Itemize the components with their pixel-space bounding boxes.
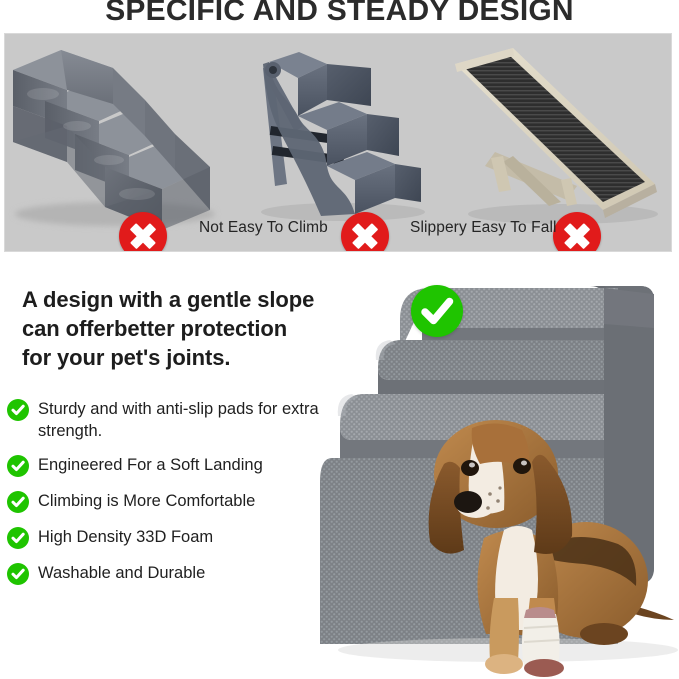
headline-line-2: can offerbetter protection xyxy=(22,314,362,343)
benefit-text: Engineered For a Soft Landing xyxy=(38,454,336,476)
check-icon xyxy=(7,491,29,513)
check-circle-icon xyxy=(7,491,29,513)
red-x-badge xyxy=(553,212,601,252)
page-title: SPECIFIC AND STEADY DESIGN xyxy=(0,0,679,28)
check-circle-icon xyxy=(7,399,29,421)
list-item: High Density 33D Foam xyxy=(6,526,336,552)
check-icon xyxy=(7,455,29,477)
benefit-text: Washable and Durable xyxy=(38,562,336,584)
list-item: Sturdy and with anti-slip pads for extra… xyxy=(6,398,336,442)
hero-product-image xyxy=(318,268,679,679)
check-icon xyxy=(7,563,29,585)
check-icon xyxy=(7,399,29,421)
headline-line-3: for your pet's joints. xyxy=(22,343,362,372)
caption-slippery-easy-to-fall: Slippery Easy To Fall xyxy=(410,219,557,237)
green-check-badge xyxy=(411,285,463,337)
check-icon xyxy=(411,285,463,337)
benefit-list: Sturdy and with anti-slip pads for extra… xyxy=(6,398,336,598)
benefit-text: Sturdy and with anti-slip pads for extra… xyxy=(38,398,336,442)
caption-not-easy-to-climb: Not Easy To Climb xyxy=(199,219,328,237)
infographic-page: SPECIFIC AND STEADY DESIGN xyxy=(0,0,679,679)
red-x-badge xyxy=(341,212,389,252)
benefit-text: Climbing is More Comfortable xyxy=(38,490,336,512)
benefit-text: High Density 33D Foam xyxy=(38,526,336,548)
pet-stairs-with-dog-illustration xyxy=(318,268,679,679)
comparison-panel: Not Easy To Climb Slippery Easy To Fall xyxy=(4,33,672,252)
check-circle-icon xyxy=(7,563,29,585)
solution-headline: A design with a gentle slope can offerbe… xyxy=(22,285,362,372)
red-x-badge xyxy=(119,212,167,252)
list-item: Climbing is More Comfortable xyxy=(6,490,336,516)
check-icon xyxy=(7,527,29,549)
list-item: Washable and Durable xyxy=(6,562,336,588)
headline-line-1: A design with a gentle slope xyxy=(22,285,362,314)
list-item: Engineered For a Soft Landing xyxy=(6,454,336,480)
check-circle-icon xyxy=(7,527,29,549)
check-circle-icon xyxy=(7,455,29,477)
